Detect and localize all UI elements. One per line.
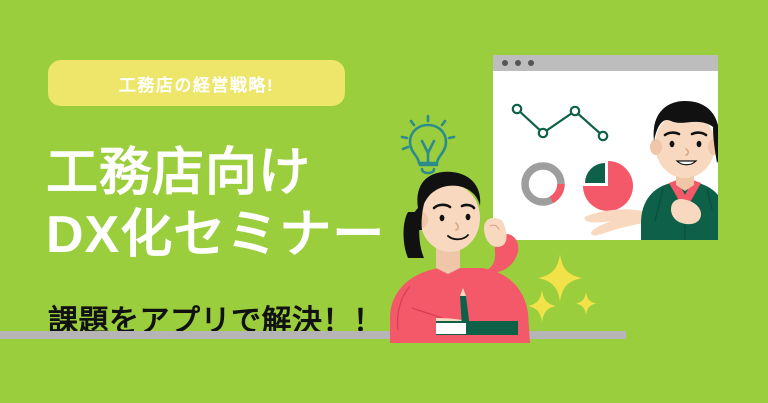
woman-figure bbox=[378, 168, 608, 338]
eyebrow-badge-label: 工務店の経営戦略! bbox=[119, 71, 274, 96]
lightbulb-icon bbox=[400, 113, 456, 175]
browser-titlebar bbox=[493, 55, 718, 71]
browser-dot-2-icon bbox=[515, 60, 521, 66]
headline-line-2: DX化セミナー bbox=[46, 204, 385, 266]
line-chart bbox=[513, 105, 607, 140]
page-title: 工務店向け DX化セミナー bbox=[46, 142, 385, 266]
headline-line-1: 工務店向け bbox=[46, 142, 385, 204]
seminar-banner: 工務店の経営戦略! 工務店向け DX化セミナー 課題をアプリで解決！！ bbox=[0, 0, 768, 403]
browser-dot-1-icon bbox=[502, 60, 508, 66]
woman-hand bbox=[484, 218, 507, 247]
browser-dot-3-icon bbox=[528, 60, 534, 66]
notebook-icon bbox=[436, 321, 518, 335]
eyebrow-badge: 工務店の経営戦略! bbox=[48, 60, 345, 106]
